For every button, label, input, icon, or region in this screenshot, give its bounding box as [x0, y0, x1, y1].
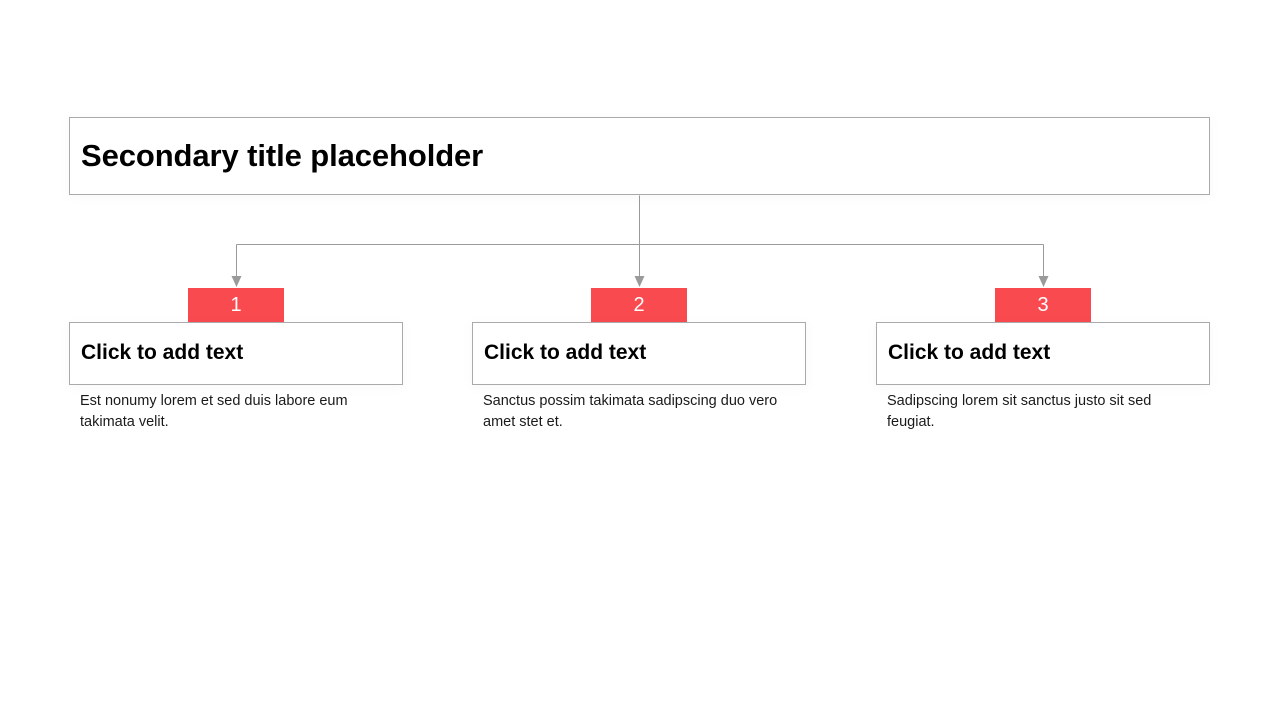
- arrowhead-1: [232, 276, 242, 287]
- text-placeholder-label-2: Click to add text: [473, 341, 646, 365]
- text-placeholder-3[interactable]: Click to add text: [876, 322, 1210, 385]
- body-text-3[interactable]: Sadipscing lorem sit sanctus justo sit s…: [887, 391, 1197, 432]
- step-number-label-1: 1: [230, 294, 241, 316]
- body-text-2[interactable]: Sanctus possim takimata sadipscing duo v…: [483, 391, 793, 432]
- step-number-badge-3[interactable]: 3: [995, 288, 1091, 323]
- step-number-label-3: 3: [1037, 294, 1048, 316]
- text-placeholder-label-1: Click to add text: [70, 341, 243, 365]
- text-placeholder-label-3: Click to add text: [877, 341, 1050, 365]
- step-number-badge-2[interactable]: 2: [591, 288, 687, 323]
- secondary-title-placeholder[interactable]: Secondary title placeholder: [69, 117, 1210, 195]
- slide-canvas: Secondary title placeholder 1 Click to a…: [0, 0, 1280, 720]
- step-number-badge-1[interactable]: 1: [188, 288, 284, 323]
- arrowhead-2: [635, 276, 645, 287]
- text-placeholder-1[interactable]: Click to add text: [69, 322, 403, 385]
- text-placeholder-2[interactable]: Click to add text: [472, 322, 806, 385]
- step-number-label-2: 2: [633, 294, 644, 316]
- body-text-1[interactable]: Est nonumy lorem et sed duis labore eum …: [80, 391, 390, 432]
- arrowhead-3: [1039, 276, 1049, 287]
- page-title: Secondary title placeholder: [70, 139, 483, 174]
